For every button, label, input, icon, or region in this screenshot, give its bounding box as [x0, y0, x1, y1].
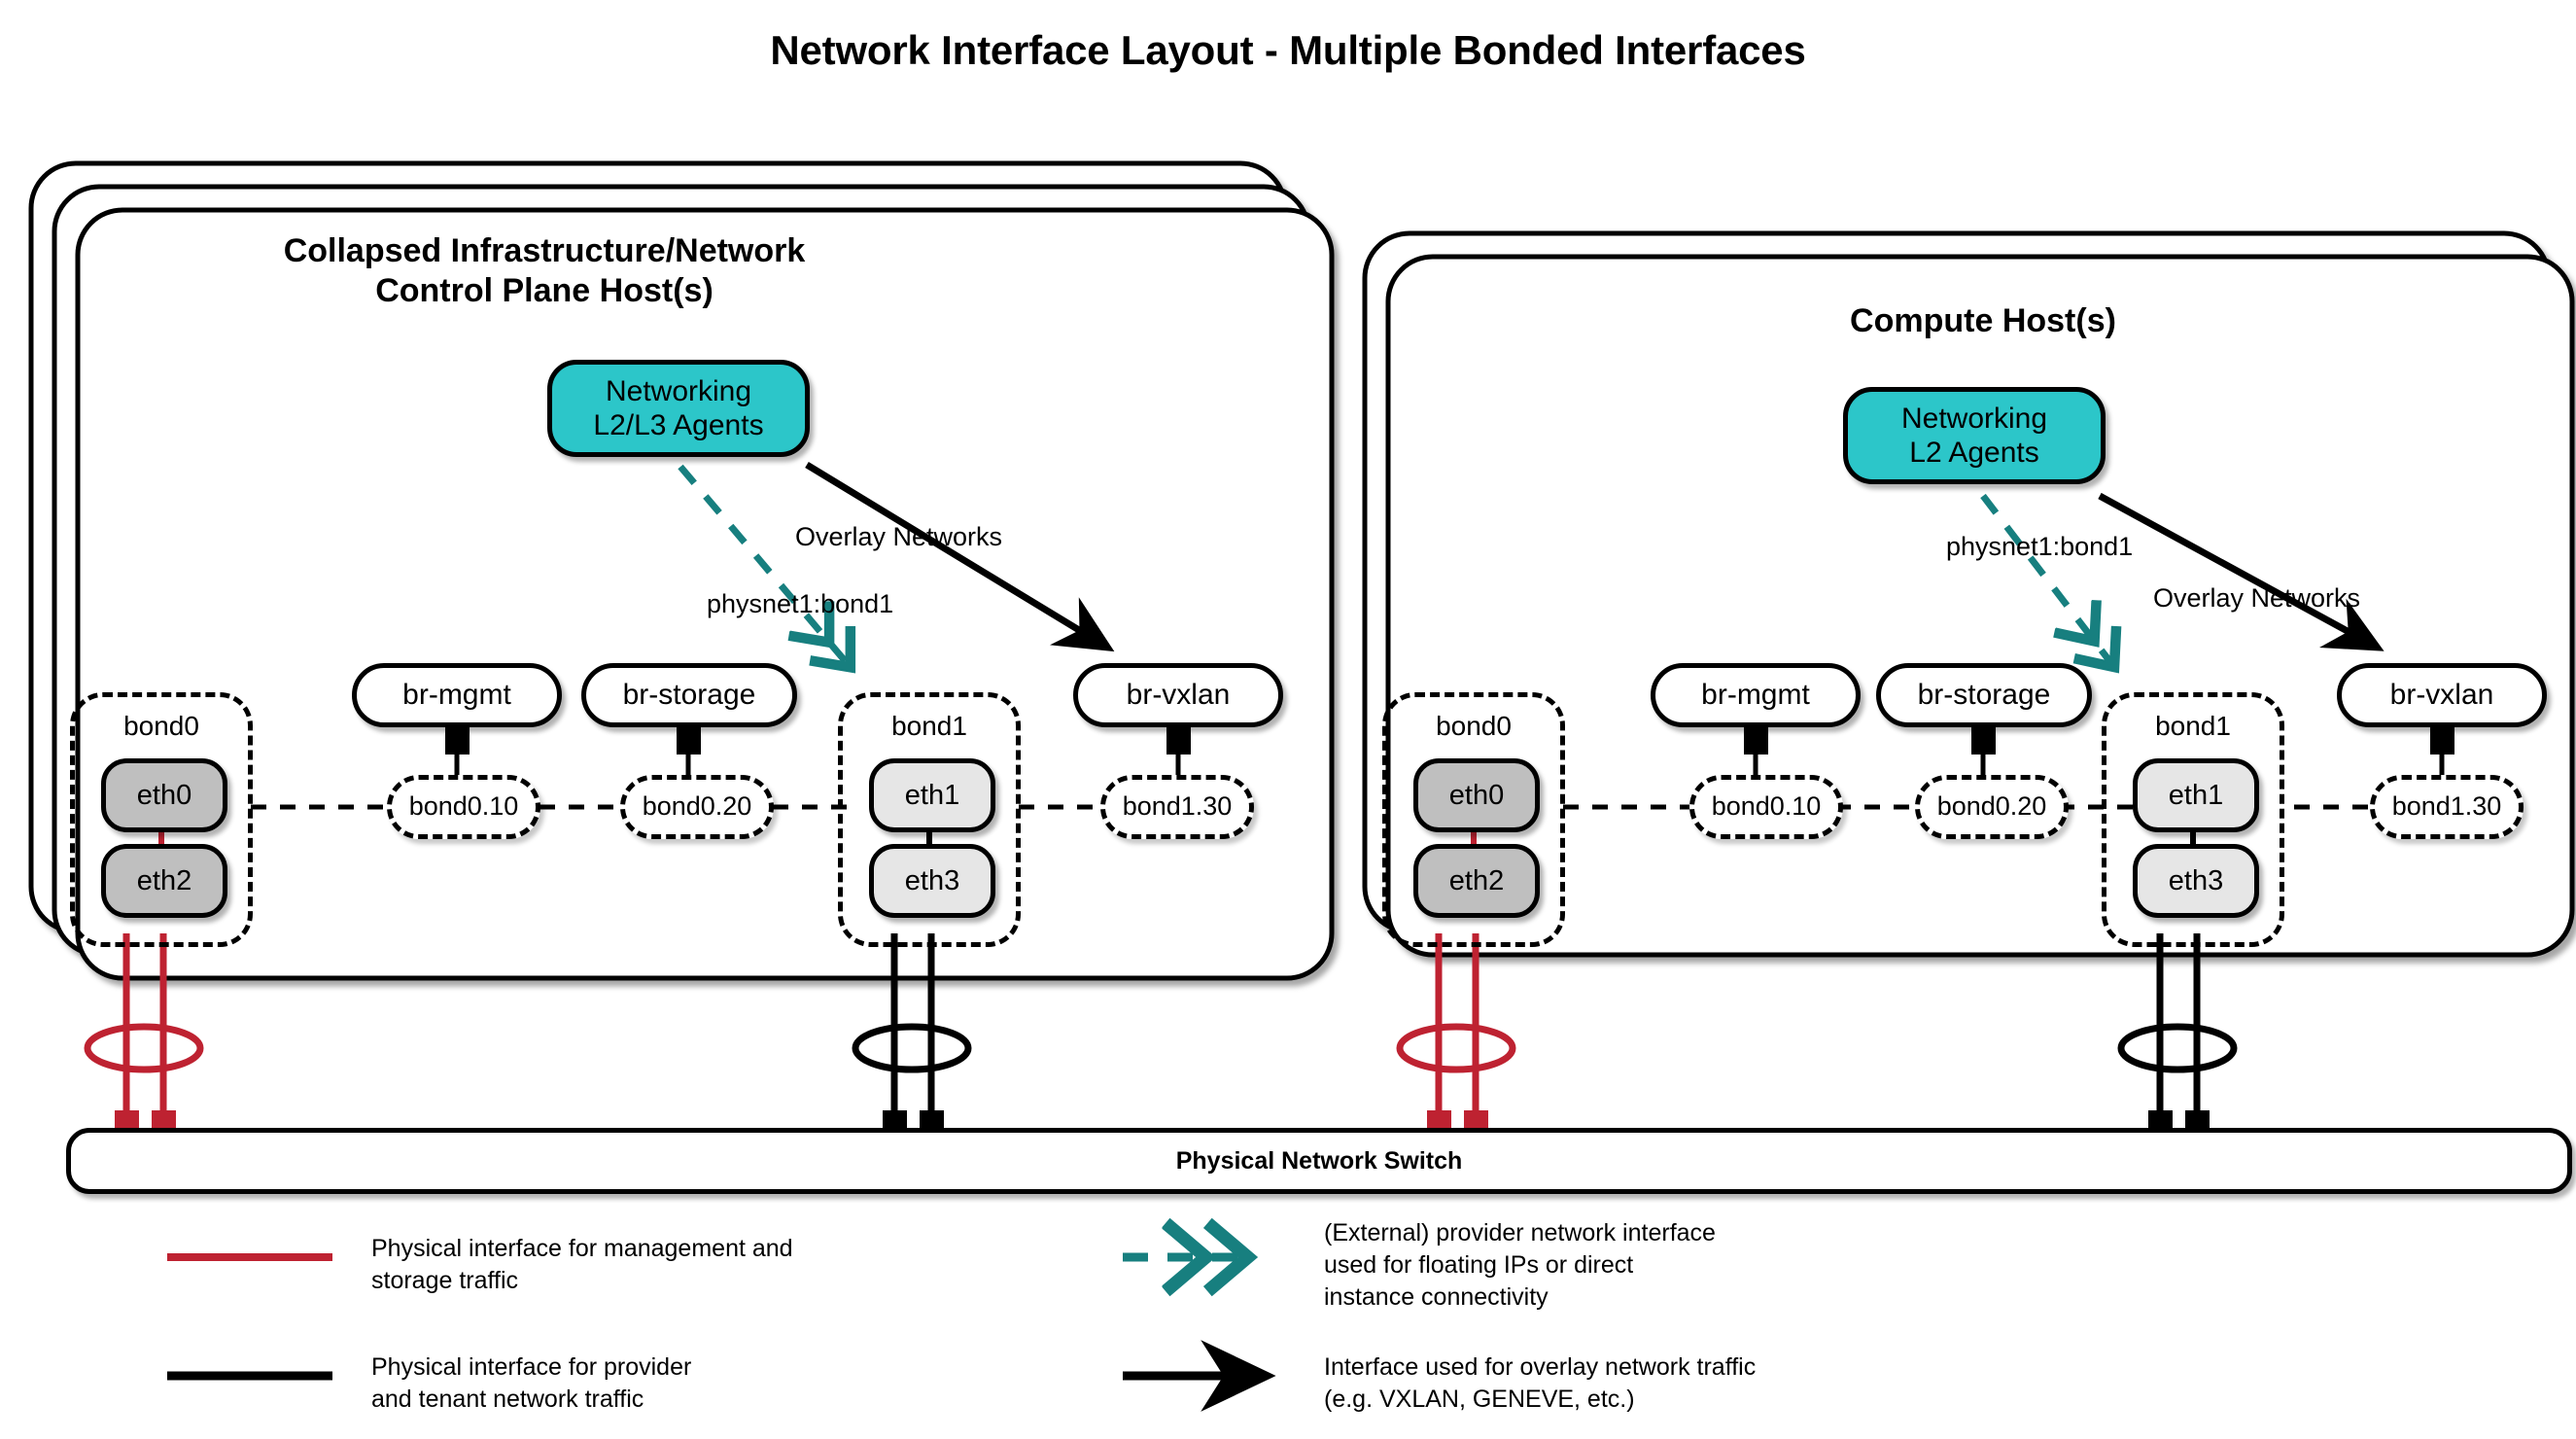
vlan-node-bond0-20-compute[interactable]: bond0.20 — [1915, 775, 2069, 839]
page-title: Network Interface Layout - Multiple Bond… — [0, 27, 2576, 74]
edge-label-provider-compute: physnet1:bond1 — [1946, 532, 2133, 562]
nic-node-eth0-compute[interactable]: eth0 — [1413, 758, 1540, 832]
bridge-node-br-storage-compute[interactable]: br-storage — [1876, 663, 2092, 727]
bond-group-label-bond0: bond0 — [75, 711, 248, 742]
vlan-node-bond1-30-control-plane[interactable]: bond1.30 — [1100, 775, 1254, 839]
bond-cable-loop — [855, 1027, 968, 1070]
host-heading-compute: Compute Host(s) — [1721, 301, 2245, 341]
nic-node-eth0-control-plane[interactable]: eth0 — [101, 758, 227, 832]
edge-label-provider-control-plane: physnet1:bond1 — [707, 589, 893, 619]
vlan-node-bond0-20-control-plane[interactable]: bond0.20 — [620, 775, 774, 839]
diagram-canvas: Network Interface Layout - Multiple Bond… — [0, 0, 2576, 1439]
host-heading-control-plane: Collapsed Infrastructure/Network Control… — [243, 231, 846, 312]
bridge-node-br-vxlan-compute[interactable]: br-vxlan — [2337, 663, 2547, 727]
bridge-node-br-mgmt-control-plane[interactable]: br-mgmt — [352, 663, 562, 727]
nic-node-eth3-compute[interactable]: eth3 — [2133, 844, 2259, 918]
nic-node-eth1-compute[interactable]: eth1 — [2133, 758, 2259, 832]
vlan-node-bond0-10-compute[interactable]: bond0.10 — [1689, 775, 1843, 839]
bond-cable-loop — [2121, 1027, 2234, 1070]
nic-node-eth3-control-plane[interactable]: eth3 — [869, 844, 995, 918]
host-panel-compute — [1388, 257, 2572, 955]
bridge-node-br-vxlan-control-plane[interactable]: br-vxlan — [1073, 663, 1283, 727]
edge-label-overlay-control-plane: Overlay Networks — [795, 522, 1002, 552]
bond-cable-loop — [87, 1027, 200, 1070]
host-panel-control-plane — [78, 210, 1332, 978]
vlan-node-bond1-30-compute[interactable]: bond1.30 — [2370, 775, 2524, 839]
nic-node-eth1-control-plane[interactable]: eth1 — [869, 758, 995, 832]
bridge-node-br-storage-control-plane[interactable]: br-storage — [581, 663, 797, 727]
bond-group-label-bond0: bond0 — [1387, 711, 1560, 742]
nic-node-eth2-control-plane[interactable]: eth2 — [101, 844, 227, 918]
vlan-node-bond0-10-control-plane[interactable]: bond0.10 — [387, 775, 540, 839]
bond-cable-loop — [1400, 1027, 1513, 1070]
nic-node-eth2-compute[interactable]: eth2 — [1413, 844, 1540, 918]
networking-agents-node-compute[interactable]: Networking L2 Agents — [1843, 387, 2106, 484]
physical-network-switch[interactable]: Physical Network Switch — [66, 1128, 2572, 1194]
cable-bundle-bond1-compute — [2121, 933, 2234, 1138]
cable-bundle-bond0-compute — [1400, 933, 1513, 1138]
legend-item-overlay-text: Interface used for overlay network traff… — [1324, 1351, 1985, 1416]
edge-label-overlay-compute: Overlay Networks — [2153, 583, 2360, 614]
bond-group-label-bond1: bond1 — [843, 711, 1016, 742]
legend-item-provider-tenant-text: Physical interface for provider and tena… — [371, 1351, 877, 1416]
bridge-node-br-mgmt-compute[interactable]: br-mgmt — [1651, 663, 1861, 727]
legend-item-external-provider-text: (External) provider network interface us… — [1324, 1217, 1927, 1314]
bond-group-label-bond1: bond1 — [2106, 711, 2280, 742]
networking-agents-node-control-plane[interactable]: Networking L2/L3 Agents — [547, 360, 810, 457]
legend-item-mgmt-storage-text: Physical interface for management and st… — [371, 1233, 877, 1297]
